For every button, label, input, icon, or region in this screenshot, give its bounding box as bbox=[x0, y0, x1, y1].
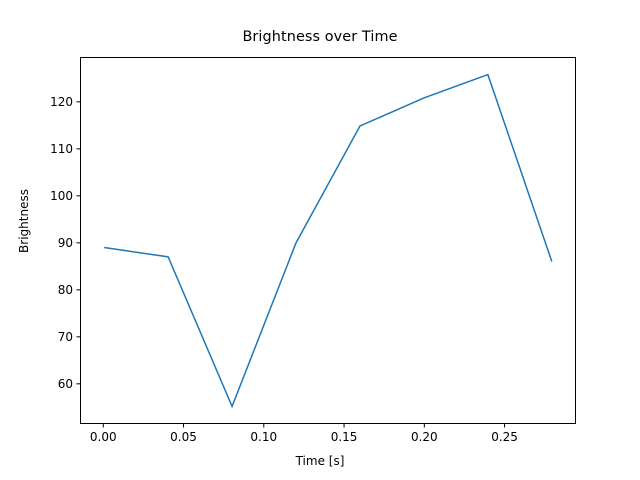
x-tick-label: 0.20 bbox=[411, 430, 438, 444]
line-series-svg bbox=[81, 58, 575, 423]
x-tick-label: 0.00 bbox=[90, 430, 117, 444]
y-tick-label: 90 bbox=[58, 236, 73, 250]
y-tick-label: 70 bbox=[58, 330, 73, 344]
x-tick-label: 0.10 bbox=[250, 430, 277, 444]
chart-title: Brightness over Time bbox=[0, 29, 640, 45]
y-tick-label: 80 bbox=[58, 283, 73, 297]
y-tick-label: 60 bbox=[58, 377, 73, 391]
x-tick-label: 0.15 bbox=[331, 430, 358, 444]
chart-figure: Brightness over Time 60708090100110120 0… bbox=[0, 0, 640, 480]
x-tick-label: 0.25 bbox=[491, 430, 518, 444]
x-axis-tick-labels: 0.000.050.100.150.200.25 bbox=[0, 430, 640, 448]
x-tick-label: 0.05 bbox=[170, 430, 197, 444]
brightness-line-series bbox=[104, 75, 552, 407]
y-tick-label: 110 bbox=[50, 142, 73, 156]
x-axis-label: Time [s] bbox=[0, 454, 640, 468]
plot-axes-area bbox=[80, 57, 576, 424]
y-tick-label: 100 bbox=[50, 189, 73, 203]
y-axis-tick-labels: 60708090100110120 bbox=[28, 57, 73, 424]
y-tick-label: 120 bbox=[50, 95, 73, 109]
y-axis-label: Brightness bbox=[17, 161, 31, 281]
